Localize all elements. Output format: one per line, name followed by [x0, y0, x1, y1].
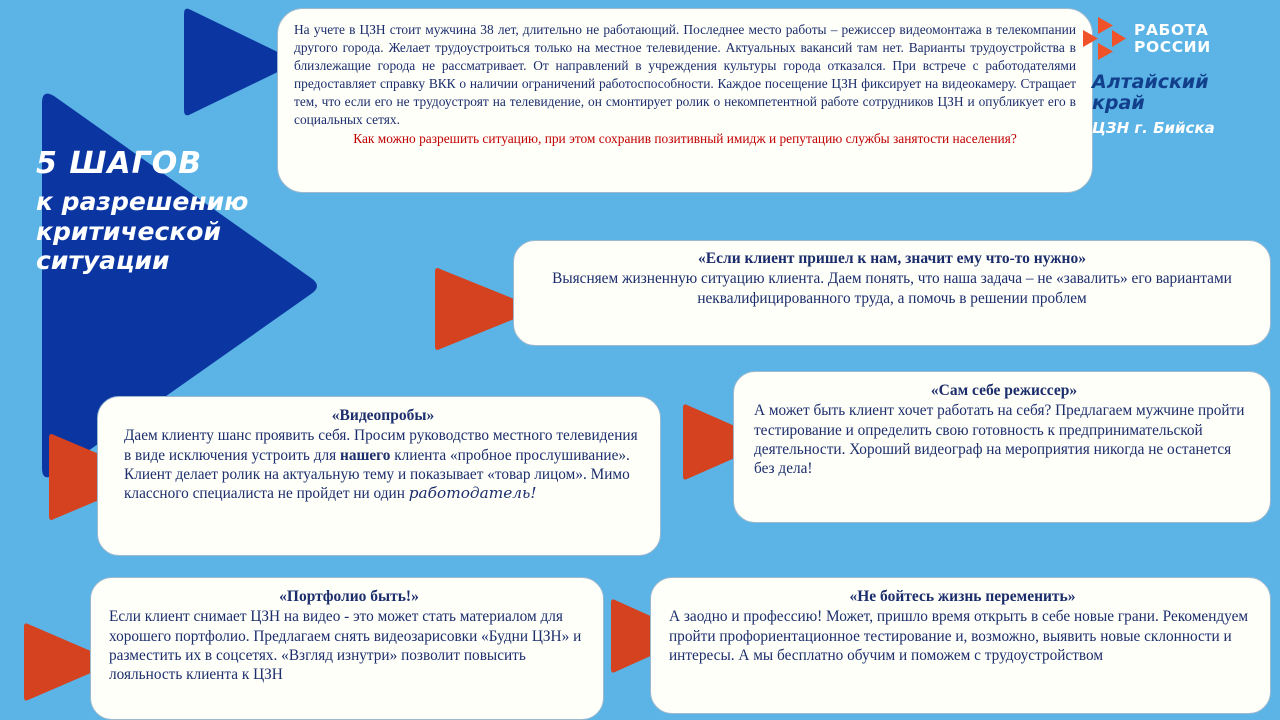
step-card-4-body: Если клиент снимает ЦЗН на видео - это м…: [109, 607, 589, 684]
step-card-2-body-emphasis: нашего: [340, 447, 390, 464]
step-card-1: «Если клиент пришел к нам, значит ему чт…: [513, 240, 1271, 346]
brand-office: ЦЗН г. Бийска: [1082, 119, 1264, 137]
brand-region: Алтайский край: [1082, 72, 1264, 115]
step-card-2-body: Даем клиенту шанс проявить себя. Просим …: [124, 426, 642, 503]
step-card-4-title: «Портфолио быть!»: [109, 587, 589, 606]
brand-logo-line1: РАБОТА: [1134, 22, 1211, 39]
step-card-2: «Видеопробы» Даем клиенту шанс проявить …: [97, 396, 661, 556]
intro-card-question: Как можно разрешить ситуацию, при этом с…: [294, 130, 1076, 148]
step-card-5-body: А заодно и профессию! Может, пришло врем…: [669, 607, 1256, 665]
intro-card-text: На учете в ЦЗН стоит мужчина 38 лет, дли…: [294, 21, 1076, 129]
step-card-2-title: «Видеопробы»: [124, 406, 642, 425]
brand-logo-line2: РОССИИ: [1134, 39, 1211, 56]
step-card-2-body-script: работодатель!: [409, 484, 537, 502]
step-card-4: «Портфолио быть!» Если клиент снимает ЦЗ…: [90, 577, 604, 720]
step-card-1-body: Выясняем жизненную ситуацию клиента. Дае…: [528, 269, 1256, 308]
intro-card: На учете в ЦЗН стоит мужчина 38 лет, дли…: [277, 8, 1093, 193]
brand-logo-wordmark: РАБОТА РОССИИ: [1134, 22, 1211, 57]
step-card-3-body: А может быть клиент хочет работать на се…: [754, 401, 1254, 478]
step-card-3-title: «Сам себе режиссер»: [754, 381, 1254, 400]
brand-block: РАБОТА РОССИИ Алтайский край ЦЗН г. Бийс…: [1082, 16, 1264, 137]
step-card-3: «Сам себе режиссер» А может быть клиент …: [733, 371, 1271, 523]
slide-canvas: 5 ШАГОВ к разрешению критической ситуаци…: [0, 0, 1280, 720]
brand-logo-row: РАБОТА РОССИИ: [1082, 16, 1264, 62]
rabota-rossii-triangles-logo-icon: [1082, 16, 1126, 62]
step-card-1-title: «Если клиент пришел к нам, значит ему чт…: [528, 249, 1256, 268]
step-card-5-title: «Не бойтесь жизнь переменить»: [669, 587, 1256, 606]
step-card-5: «Не бойтесь жизнь переменить» А заодно и…: [650, 577, 1271, 714]
